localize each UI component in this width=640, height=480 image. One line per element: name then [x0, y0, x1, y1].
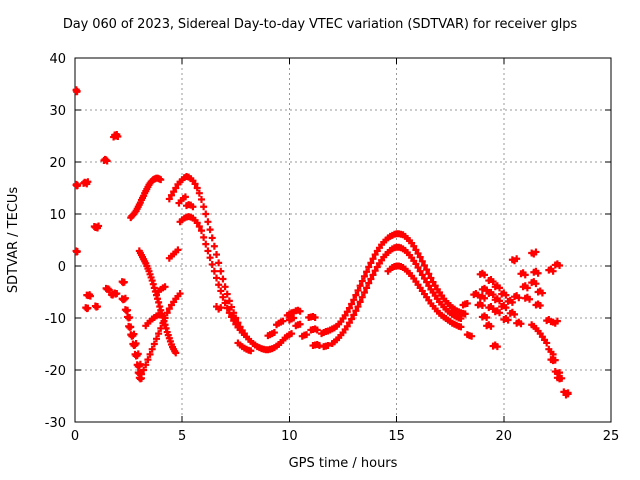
y-tick-label: 0 [58, 260, 66, 275]
scatter-markers [73, 86, 572, 398]
plot-frame [75, 58, 611, 422]
x-tick-labels: 0510152025 [71, 429, 619, 444]
y-tick-labels: -30-20-10010203040 [45, 52, 66, 431]
y-tick-label: 30 [49, 104, 66, 119]
y-tick-label: 40 [49, 52, 66, 67]
x-tick-label: 5 [178, 429, 186, 444]
y-tick-label: 20 [49, 156, 66, 171]
tick-marks [75, 58, 611, 422]
chart-container: Day 060 of 2023, Sidereal Day-to-day VTE… [0, 0, 640, 480]
x-tick-label: 25 [603, 429, 620, 444]
x-tick-label: 15 [388, 429, 405, 444]
x-tick-label: 0 [71, 429, 79, 444]
y-tick-label: -10 [45, 312, 66, 327]
x-axis-label: GPS time / hours [289, 456, 398, 471]
x-tick-label: 10 [281, 429, 298, 444]
y-tick-label: -30 [45, 416, 66, 431]
y-axis-label: SDTVAR / TECUs [6, 187, 21, 294]
y-tick-label: -20 [45, 364, 66, 379]
data-series-sdtvar [73, 86, 572, 398]
x-tick-label: 20 [496, 429, 513, 444]
y-tick-label: 10 [49, 208, 66, 223]
gridlines [75, 58, 611, 422]
plot-area: 0510152025 -30-20-10010203040 GPS time /… [0, 0, 640, 480]
